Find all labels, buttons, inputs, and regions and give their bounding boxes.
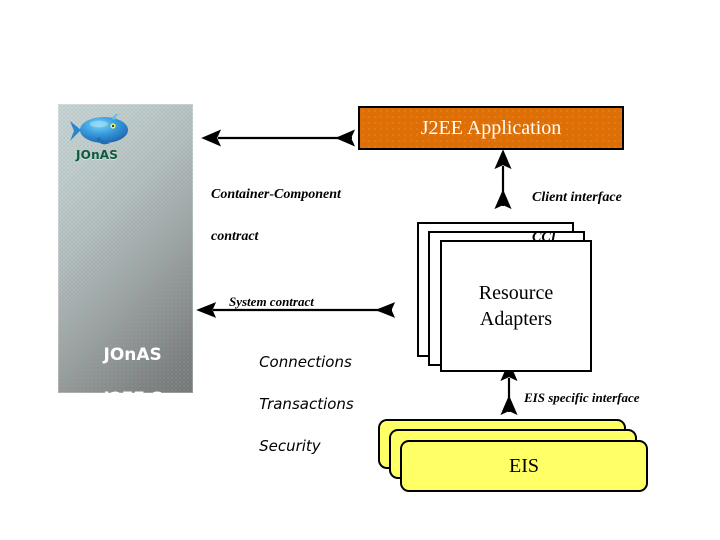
label-system-services: Connections Transactions Security	[240, 331, 354, 478]
jonas-server-title: JOnAS J2EE Server	[68, 322, 214, 432]
label-container-component-contract-line2: contract	[211, 229, 258, 244]
jonas-server-title-line2: J2EE Server	[104, 389, 214, 409]
jonas-server-panel: JOnAS JOnAS J2EE Server	[58, 104, 193, 393]
label-eis-specific-interface: EIS specific interface	[524, 390, 640, 406]
label-system-services-line1: Connections	[259, 353, 352, 371]
label-client-interface-line1: Client interface	[532, 190, 622, 205]
eis-label: EIS	[509, 455, 539, 478]
label-container-component-contract-line1: Container-Component	[211, 187, 341, 202]
resource-adapters-label: Resource Adapters	[479, 280, 553, 332]
jonas-whale-logo-icon: JOnAS	[68, 112, 142, 164]
label-system-services-line2: Transactions	[259, 395, 354, 413]
jonas-logo-text: JOnAS	[76, 148, 118, 162]
j2ee-application-label: J2EE Application	[421, 117, 562, 140]
diagram-canvas: JOnAS JOnAS J2EE Server J2EE Application…	[0, 0, 720, 540]
resource-adapters-box: Resource Adapters	[440, 240, 592, 372]
resource-adapters-label-line2: Adapters	[480, 308, 552, 330]
label-system-contract: System contract	[229, 294, 314, 310]
eis-box: EIS	[400, 440, 648, 492]
j2ee-application-box: J2EE Application	[358, 106, 624, 150]
label-container-component-contract: Container-Component contract	[197, 163, 341, 268]
jonas-server-title-line1: JOnAS	[104, 345, 162, 365]
resource-adapters-label-line1: Resource	[479, 282, 553, 304]
label-system-services-line3: Security	[259, 437, 321, 455]
